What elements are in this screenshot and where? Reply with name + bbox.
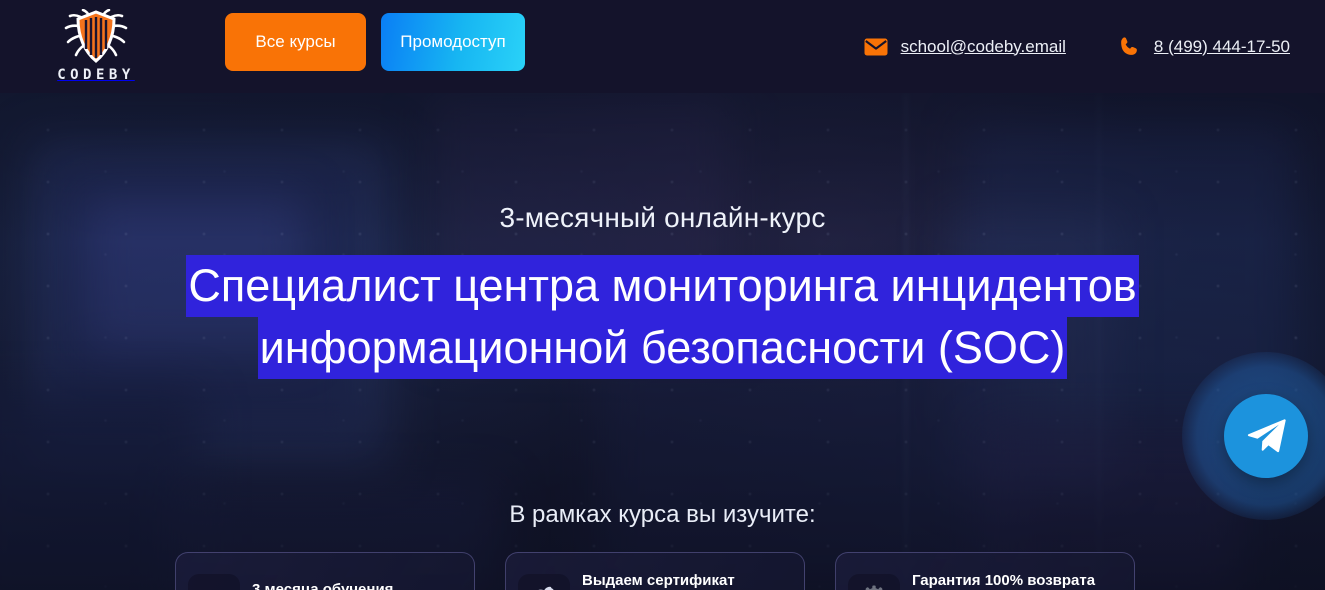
telegram-chat-button[interactable] [1224, 394, 1308, 478]
feature-card-text: 3 месяца обучения с видеоуроками и задан… [252, 581, 456, 590]
spider-shield-icon [59, 9, 133, 65]
certificate-scroll-icon [518, 574, 570, 590]
hero-section: 3-месячный онлайн-курс Специалист центра… [0, 93, 1325, 590]
phone-link[interactable]: 8 (499) 444-17-50 [1118, 35, 1290, 58]
hero-eyebrow: 3-месячный онлайн-курс [0, 202, 1325, 234]
header-contacts: school@codeby.email 8 (499) 444-17-50 [864, 0, 1290, 93]
feature-card-text: Выдаем сертификат после успешной сдачи э… [582, 572, 790, 590]
hero-subtitle: В рамках курса вы изучите: [0, 501, 1325, 529]
phone-text: 8 (499) 444-17-50 [1154, 37, 1290, 57]
page-title: Специалист центра мониторинга инцидентов… [0, 255, 1325, 379]
email-link[interactable]: school@codeby.email [864, 37, 1066, 57]
feature-card-certificate: Выдаем сертификат после успешной сдачи э… [505, 552, 805, 590]
page-title-line-1: Специалист центра мониторинга инцидентов [186, 255, 1138, 317]
hero-content: 3-месячный онлайн-курс Специалист центра… [0, 93, 1325, 590]
graduation-cap-icon [188, 574, 240, 590]
site-header: CODEBY Все курсы Промодоступ school@code… [0, 0, 1325, 93]
feature-card-refund: $ Гарантия 100% возврата средств в первы… [835, 552, 1135, 590]
header-actions: Все курсы Промодоступ [225, 13, 525, 71]
logo-wordmark: CODEBY [57, 67, 135, 83]
money-refund-icon: $ [848, 574, 900, 590]
envelope-icon [864, 38, 888, 56]
all-courses-button[interactable]: Все курсы [225, 13, 366, 71]
email-text: school@codeby.email [901, 37, 1066, 57]
site-logo[interactable]: CODEBY [42, 6, 150, 86]
feature-card-text: Гарантия 100% возврата средств в первые … [912, 572, 1120, 590]
landing-page: CODEBY Все курсы Промодоступ school@code… [0, 0, 1325, 590]
telegram-paper-plane-icon [1245, 416, 1287, 457]
floating-chat-widget [1182, 352, 1325, 520]
feature-card-duration: 3 месяца обучения с видеоуроками и задан… [175, 552, 475, 590]
feature-card-list: 3 месяца обучения с видеоуроками и задан… [175, 552, 1135, 590]
phone-icon [1118, 35, 1141, 58]
promo-access-button[interactable]: Промодоступ [381, 13, 525, 71]
feature-card-title: 3 месяца обучения [252, 581, 456, 590]
feature-card-title: Выдаем сертификат [582, 572, 790, 590]
feature-card-title: Гарантия 100% возврата [912, 572, 1120, 590]
page-title-line-2: информационной безопасности (SOC) [258, 317, 1068, 379]
